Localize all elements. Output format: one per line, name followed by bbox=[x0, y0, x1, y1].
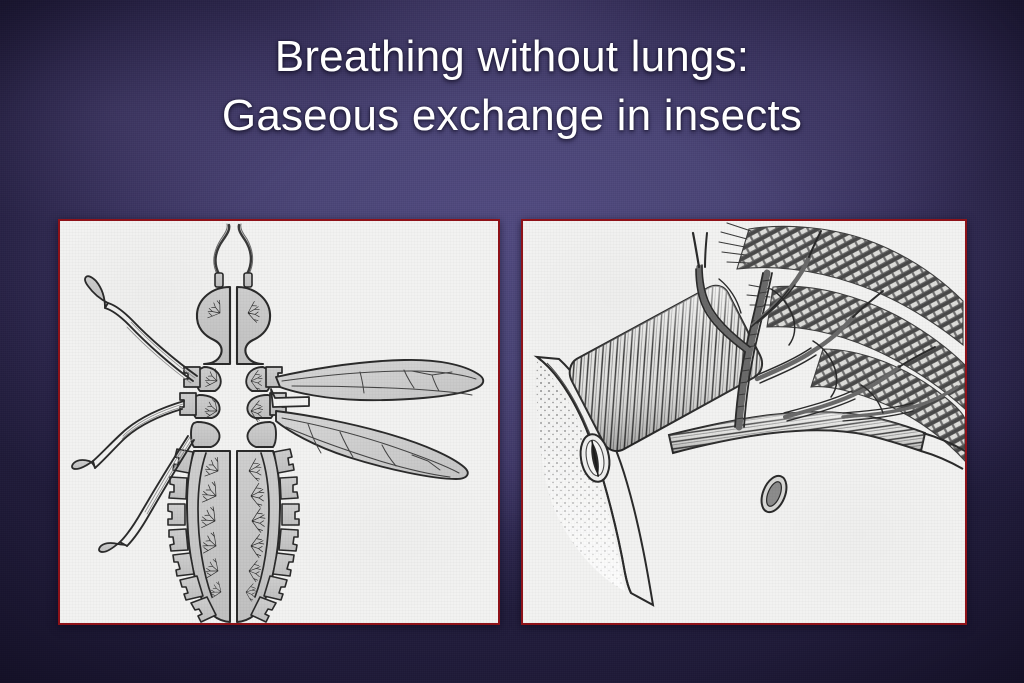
slide-title: Breathing without lungs: Gaseous exchang… bbox=[0, 28, 1024, 145]
cut-trachea-end bbox=[757, 472, 792, 515]
insect-tracheal-system-drawing bbox=[60, 221, 498, 623]
slide-canvas: Breathing without lungs: Gaseous exchang… bbox=[0, 0, 1024, 683]
figure-panel-insect-tracheal-system[interactable] bbox=[58, 219, 500, 625]
slide-title-line-2: Gaseous exchange in insects bbox=[0, 87, 1024, 146]
slide-title-line-1: Breathing without lungs: bbox=[0, 28, 1024, 87]
figure-panel-spiracle-trachea-detail[interactable] bbox=[521, 219, 967, 625]
spiracle-trachea-tracheole-drawing bbox=[523, 221, 965, 623]
